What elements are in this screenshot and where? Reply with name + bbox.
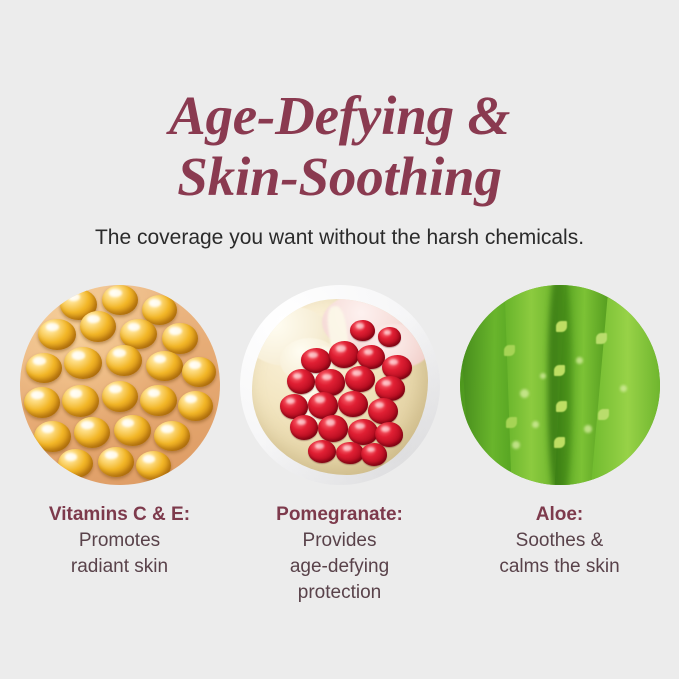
headline-line-2: Skin-Soothing (0, 146, 679, 207)
description-line: Soothes & (452, 528, 667, 554)
ingredient-description-aloe: Soothes & calms the skin (452, 528, 667, 580)
ingredient-caption-pomegranate: Pomegranate: Provides age-defying protec… (232, 502, 447, 606)
ingredient-caption-vitamins: Vitamins C & E: Promotes radiant skin (12, 502, 227, 580)
ingredient-card-vitamins: Vitamins C & E: Promotes radiant skin (20, 285, 220, 580)
ingredient-card-pomegranate: Pomegranate: Provides age-defying protec… (240, 285, 440, 606)
ingredient-label-vitamins: Vitamins C & E: (12, 502, 227, 528)
pomegranate-photo (240, 285, 440, 485)
headline-line-1: Age-Defying & (0, 85, 679, 146)
subtitle: The coverage you want without the harsh … (0, 224, 679, 252)
description-line: Promotes (12, 528, 227, 554)
ingredient-label-pomegranate: Pomegranate: (232, 502, 447, 528)
aloe-leaves-photo (460, 285, 660, 485)
ingredient-description-pomegranate: Provides age-defying protection (232, 528, 447, 606)
ingredient-caption-aloe: Aloe: Soothes & calms the skin (452, 502, 667, 580)
ingredient-label-aloe: Aloe: (452, 502, 667, 528)
ingredient-card-aloe: Aloe: Soothes & calms the skin (460, 285, 660, 580)
description-line: age-defying (232, 554, 447, 580)
vitamin-capsules-circle (20, 285, 220, 485)
description-line: calms the skin (452, 554, 667, 580)
ingredient-benefits-infographic: Age-Defying & Skin-Soothing The coverage… (0, 0, 679, 679)
description-line: radiant skin (12, 554, 227, 580)
description-line: protection (232, 580, 447, 606)
description-line: Provides (232, 528, 447, 554)
aloe-circle (460, 285, 660, 485)
ingredient-card-row: Vitamins C & E: Promotes radiant skin (0, 285, 679, 606)
ingredient-description-vitamins: Promotes radiant skin (12, 528, 227, 580)
page-title: Age-Defying & Skin-Soothing (0, 85, 679, 207)
vitamin-capsules-photo (20, 285, 220, 485)
pomegranate-circle (240, 285, 440, 485)
